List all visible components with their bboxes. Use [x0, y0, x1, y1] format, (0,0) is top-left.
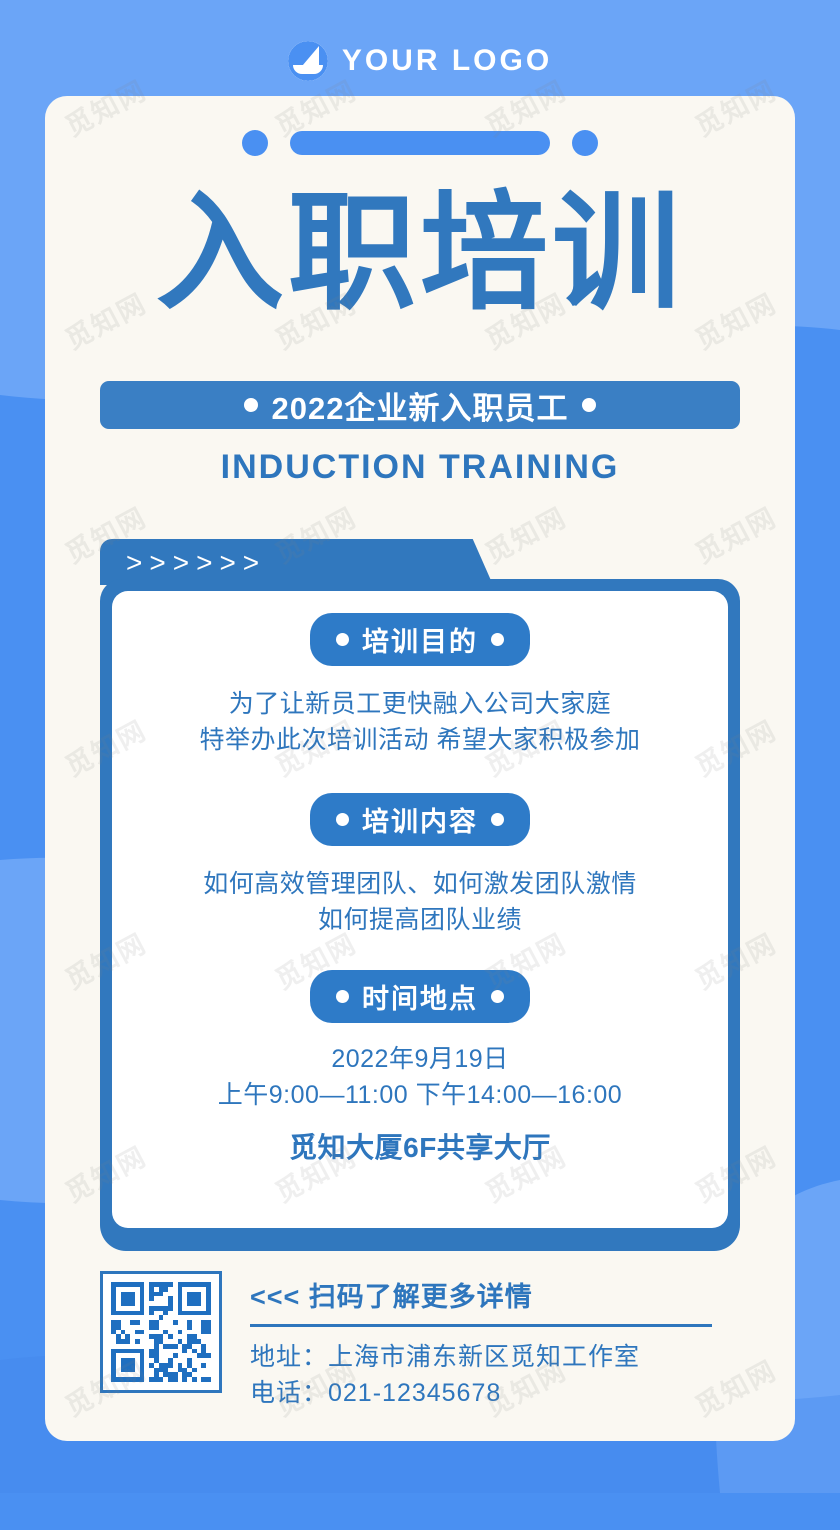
notch-dot-left [242, 130, 268, 156]
scan-prompt: <<< 扫码了解更多详情 [250, 1275, 712, 1314]
chevron-right-icons: >>>>>> [126, 543, 259, 583]
logo-text: YOUR LOGO [342, 44, 552, 78]
folder-inner: 培训目的 为了让新员工更快融入公司大家庭 特举办此次培训活动 希望大家积极参加 … [112, 591, 728, 1228]
qr-cell [206, 1377, 211, 1382]
chevron-right-icon: > [219, 549, 235, 577]
notch-bar [290, 131, 550, 155]
section-badge-content: 培训内容 [310, 793, 530, 846]
section-badge-label: 时间地点 [362, 977, 478, 1016]
section-line: 为了让新员工更快融入公司大家庭 [112, 686, 728, 722]
event-time: 上午9:00—11:00 下午14:00—16:00 [112, 1077, 728, 1113]
dot-icon-right [491, 633, 504, 646]
footer-details: <<< 扫码了解更多详情 地址：上海市浦东新区觅知工作室 电话：021-1234… [250, 1271, 712, 1412]
section-badge-label: 培训内容 [362, 800, 478, 839]
section-purpose: 培训目的 为了让新员工更快融入公司大家庭 特举办此次培训活动 希望大家积极参加 [112, 613, 728, 759]
section-line: 如何提高团队业绩 [112, 902, 728, 938]
sail-boat-circle-icon [288, 41, 328, 81]
chevron-right-icon: > [173, 549, 189, 577]
chevron-right-icon: > [196, 549, 212, 577]
footer: <<< 扫码了解更多详情 地址：上海市浦东新区觅知工作室 电话：021-1234… [45, 1271, 795, 1431]
subtitle-english: INDUCTION TRAINING [45, 448, 795, 487]
notch-decoration [45, 130, 795, 156]
event-venue: 觅知大厦6F共享大厅 [112, 1128, 728, 1169]
chevron-right-icon: > [243, 549, 259, 577]
page-title: 入职培训 [45, 190, 795, 318]
phone-line: 电话：021-12345678 [250, 1375, 712, 1411]
subtitle-bar-label: 2022企业新入职员工 [272, 383, 569, 428]
qr-code-icon[interactable] [100, 1271, 222, 1393]
dot-icon-left [336, 813, 349, 826]
event-date: 2022年9月19日 [112, 1041, 728, 1077]
poster-card: 入职培训 2022企业新入职员工 INDUCTION TRAINING >>>>… [45, 96, 795, 1441]
section-content: 培训内容 如何高效管理团队、如何激发团队激情 如何提高团队业绩 [112, 793, 728, 939]
dot-icon-right [491, 813, 504, 826]
content-folder-card: >>>>>> 培训目的 为了让新员工更快融入公司大家庭 特举办此次培训活动 希望… [100, 539, 740, 1251]
section-line: 如何高效管理团队、如何激发团队激情 [112, 866, 728, 902]
section-time-location: 时间地点 2022年9月19日 上午9:00—11:00 下午14:00—16:… [112, 970, 728, 1168]
notch-dot-right [572, 130, 598, 156]
dot-icon-right [582, 398, 596, 412]
chevron-right-icon: > [126, 549, 142, 577]
section-badge-time-location: 时间地点 [310, 970, 530, 1023]
logo-bar: YOUR LOGO [0, 32, 840, 90]
address-line: 地址：上海市浦东新区觅知工作室 [250, 1339, 712, 1375]
divider [250, 1324, 712, 1327]
dot-icon-left [336, 633, 349, 646]
sail-base-shape [293, 65, 323, 74]
section-badge-label: 培训目的 [362, 620, 478, 659]
subtitle-bar: 2022企业新入职员工 [100, 381, 740, 429]
chevron-right-icon: > [149, 549, 165, 577]
folder-body: 培训目的 为了让新员工更快融入公司大家庭 特举办此次培训活动 希望大家积极参加 … [100, 579, 740, 1251]
dot-icon-right [491, 990, 504, 1003]
dot-icon-left [336, 990, 349, 1003]
section-line: 特举办此次培训活动 希望大家积极参加 [112, 722, 728, 758]
section-badge-purpose: 培训目的 [310, 613, 530, 666]
dot-icon-left [244, 398, 258, 412]
